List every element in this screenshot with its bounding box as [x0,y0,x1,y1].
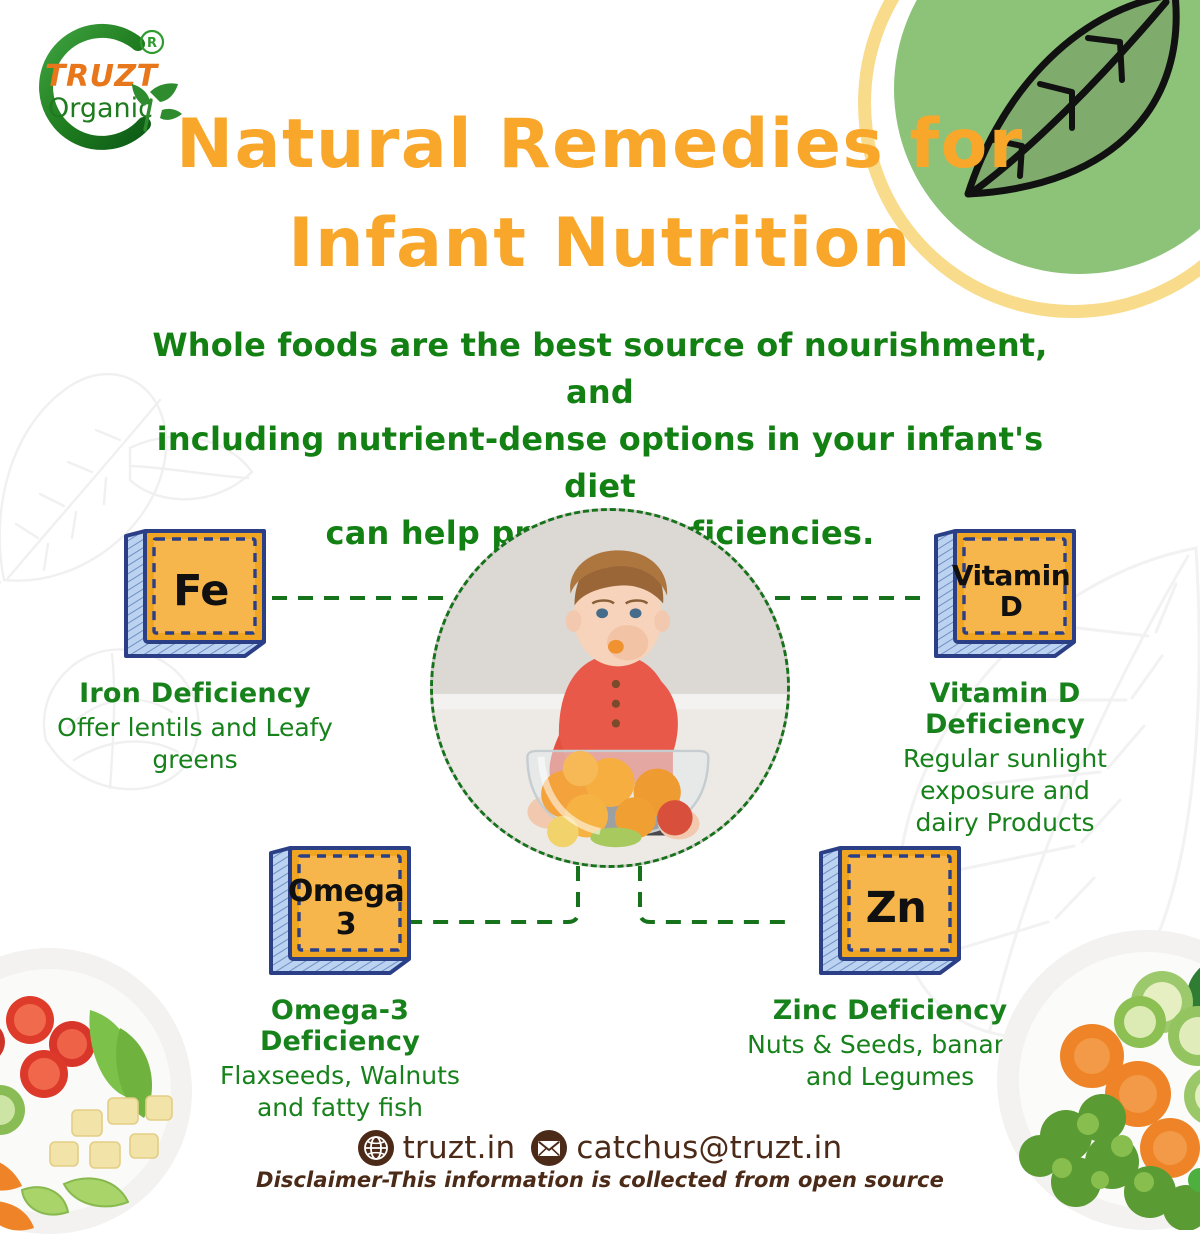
badge-label-zinc: Zn [836,851,956,965]
badge-wrap-iron: Fe [45,528,345,664]
center-photo [430,508,790,868]
footer-contact-row: truzt.in catchus@truzt.in [0,1130,1200,1166]
card-iron[interactable]: Fe Iron Deficiency Offer lentils and Lea… [45,528,345,776]
card-desc-iron: Offer lentils and Leafy greens [45,712,345,776]
badge-label-omega-3: Omega 3 [286,851,406,965]
website-contact[interactable]: truzt.in [358,1130,516,1166]
card-title-vitamin-d: Vitamin D Deficiency [855,678,1155,740]
card-title-omega-3: Omega-3 Deficiency [190,995,490,1057]
baby-eating-fruit-photo [433,511,787,865]
badge-label-iron: Fe [141,534,261,648]
email-contact[interactable]: catchus@truzt.in [531,1130,842,1166]
card-desc-vitamin-d: Regular sunlight exposure and dairy Prod… [855,743,1155,839]
nutrient-badge-vitamin-d: Vitamin D [931,528,1079,664]
vegetable-plate-bottom-left [0,946,194,1236]
badge-label-vitamin-d: Vitamin D [951,534,1071,648]
badge-wrap-vitamin-d: Vitamin D [855,528,1155,664]
card-omega-3[interactable]: Omega 3 Omega-3 Deficiency Flaxseeds, Wa… [190,845,490,1124]
disclaimer-text: Disclaimer-This information is collected… [0,1168,1200,1192]
footer: truzt.in catchus@truzt.in Disclaimer-Thi… [0,1130,1200,1192]
badge-wrap-omega-3: Omega 3 [190,845,490,981]
card-title-iron: Iron Deficiency [45,678,345,709]
card-desc-omega-3: Flaxseeds, Walnuts and fatty fish [190,1060,490,1124]
website-text: truzt.in [403,1130,516,1166]
nutrient-badge-iron: Fe [121,528,269,664]
email-text: catchus@truzt.in [576,1130,842,1166]
card-vitamin-d[interactable]: Vitamin D Vitamin D Deficiency Regular s… [855,528,1155,839]
nutrient-badge-zinc: Zn [816,845,964,981]
envelope-icon [531,1130,567,1166]
globe-icon [358,1130,394,1166]
nutrient-badge-omega-3: Omega 3 [266,845,414,981]
